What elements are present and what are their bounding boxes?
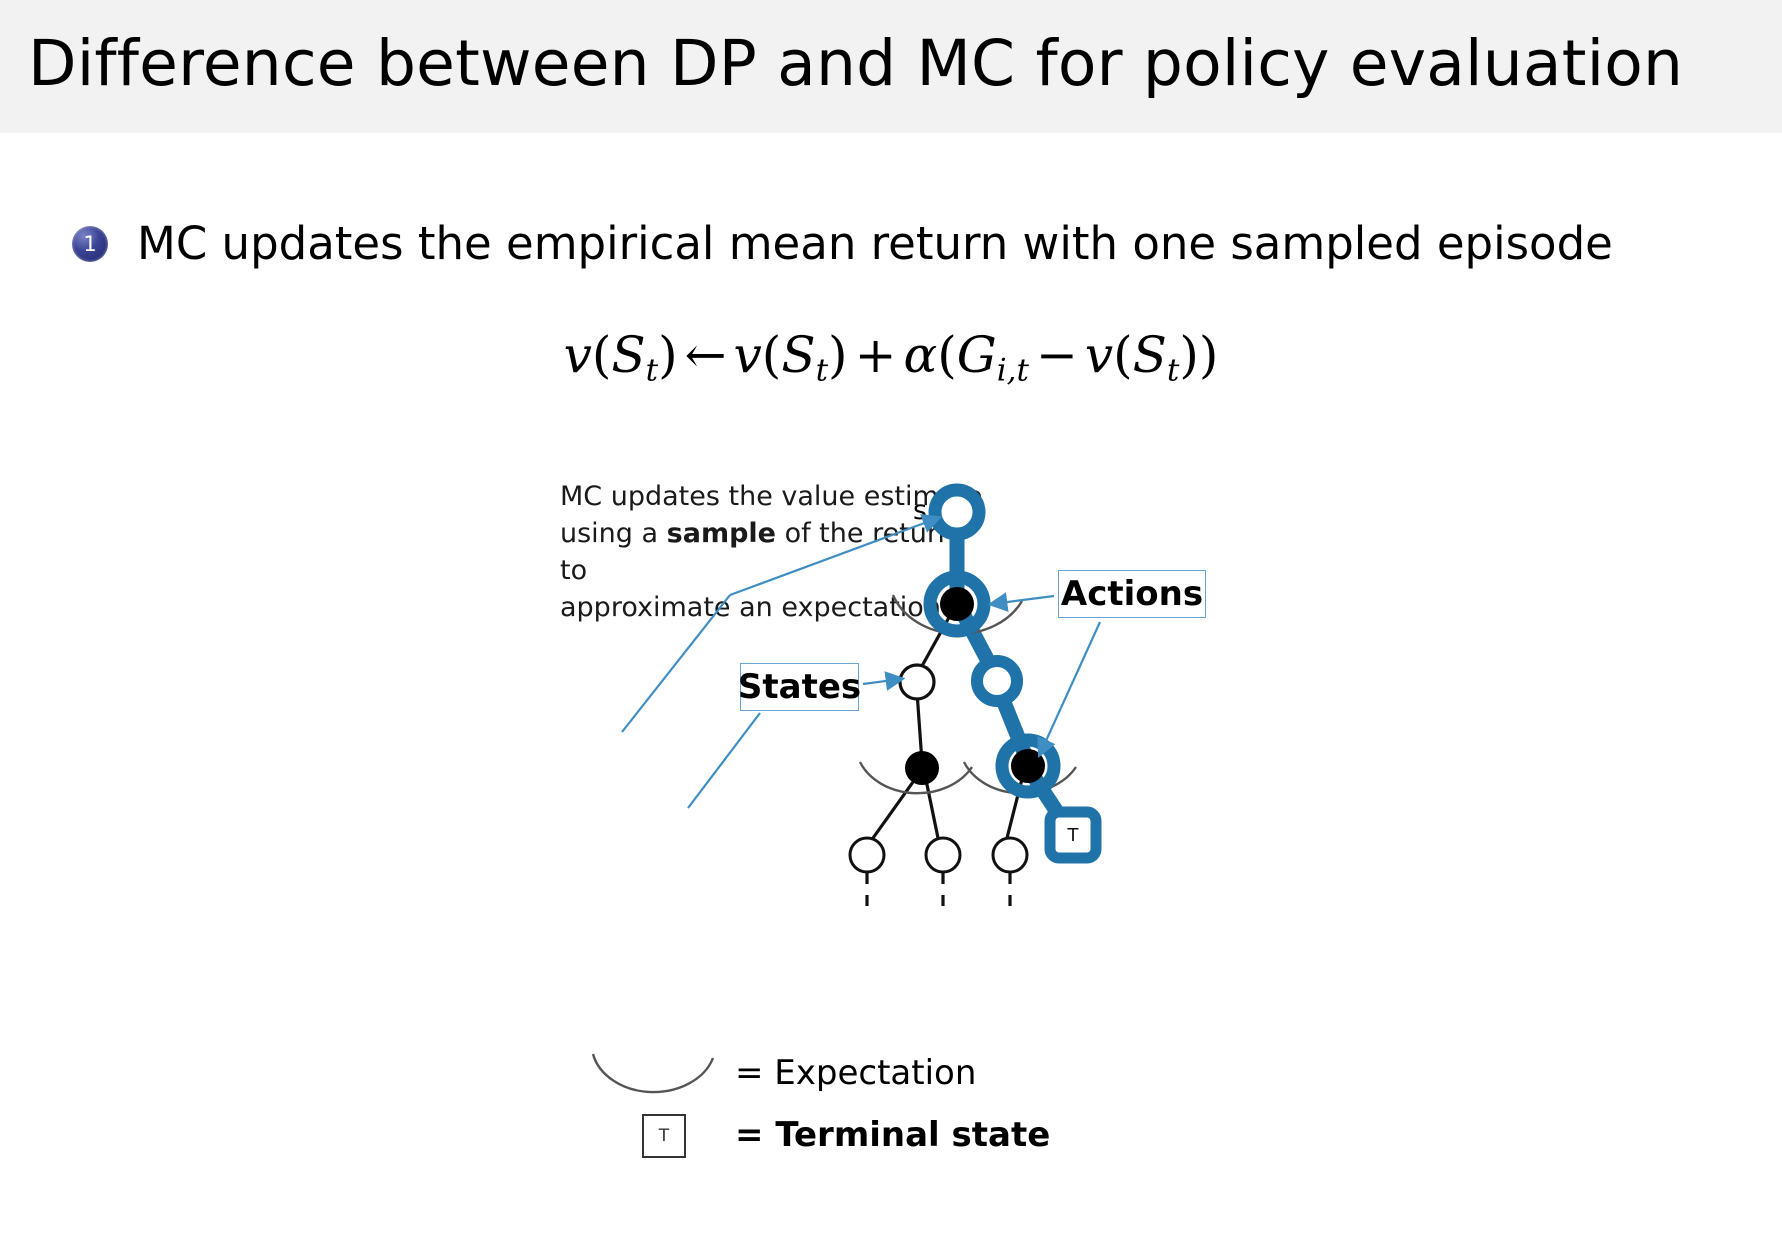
- callout-actions: Actions: [1058, 570, 1206, 618]
- formula-lparen-1: (: [592, 326, 612, 384]
- legend-label-expectation: = Expectation: [735, 1053, 976, 1093]
- action-node-left: [905, 751, 939, 785]
- formula-lparen-3: (: [937, 326, 957, 384]
- formula-G: G: [957, 326, 997, 384]
- terminal-state-icon: T: [585, 1108, 735, 1162]
- formula-lparen-2: (: [762, 326, 782, 384]
- leaf-states: [850, 838, 1027, 872]
- bullet-item: 1 MC updates the empirical mean return w…: [72, 216, 1613, 272]
- formula-S-3: S: [1133, 326, 1167, 384]
- formula-sub-t-2: t: [816, 353, 828, 389]
- formula-rparen-3: ): [1179, 326, 1199, 384]
- formula-S-2: S: [781, 326, 815, 384]
- legend-terminal-glyph: T: [642, 1114, 686, 1158]
- formula-S-1: S: [611, 326, 645, 384]
- formula-rparen-2: ): [828, 326, 848, 384]
- formula-rparen-4: ): [1199, 326, 1219, 384]
- action-node-sampled: [1011, 749, 1045, 783]
- formula-v-right: v: [734, 326, 762, 384]
- callout-states: States: [740, 663, 859, 711]
- terminal-state-label: T: [1061, 823, 1085, 847]
- legend: = Expectation T = Terminal state: [585, 1046, 1205, 1176]
- formula-plus: +: [848, 326, 904, 384]
- backup-tree-svg: [560, 470, 1260, 1030]
- state-node-left: [900, 665, 934, 699]
- bullet-number-icon: 1: [72, 226, 108, 262]
- continuation-dashes: [867, 873, 1010, 913]
- state-node-sampled: [977, 661, 1017, 701]
- formula-sub-t-3: t: [1167, 353, 1179, 389]
- update-formula: v(St)←v(St)+α(Gi,t−v(St)): [0, 326, 1782, 389]
- state-node-root: [935, 490, 979, 534]
- slide: Difference between DP and MC for policy …: [0, 0, 1782, 1242]
- bullet-text: MC updates the empirical mean return wit…: [137, 216, 1613, 272]
- formula-sub-t-1: t: [646, 353, 658, 389]
- legend-row-terminal: T = Terminal state: [585, 1108, 1050, 1162]
- formula-v-inner: v: [1085, 326, 1113, 384]
- legend-row-expectation: = Expectation: [585, 1046, 976, 1100]
- formula-rparen-1: ): [658, 326, 678, 384]
- page-title: Difference between DP and MC for policy …: [28, 26, 1683, 102]
- formula-sub-it: i,t: [997, 353, 1029, 389]
- slide-header-band: Difference between DP and MC for policy …: [0, 0, 1782, 133]
- formula-lparen-4: (: [1113, 326, 1133, 384]
- expectation-arc-icon: [585, 1046, 735, 1100]
- tree-edges: [873, 612, 1023, 838]
- formula-v-left: v: [564, 326, 592, 384]
- formula-alpha: α: [903, 326, 937, 384]
- action-node-root: [940, 587, 974, 621]
- backup-diagram: MC updates the value estimate using a sa…: [560, 470, 1260, 1030]
- legend-label-terminal: = Terminal state: [735, 1115, 1050, 1155]
- formula-minus: −: [1029, 326, 1085, 384]
- formula-arrow-icon: ←: [678, 326, 734, 384]
